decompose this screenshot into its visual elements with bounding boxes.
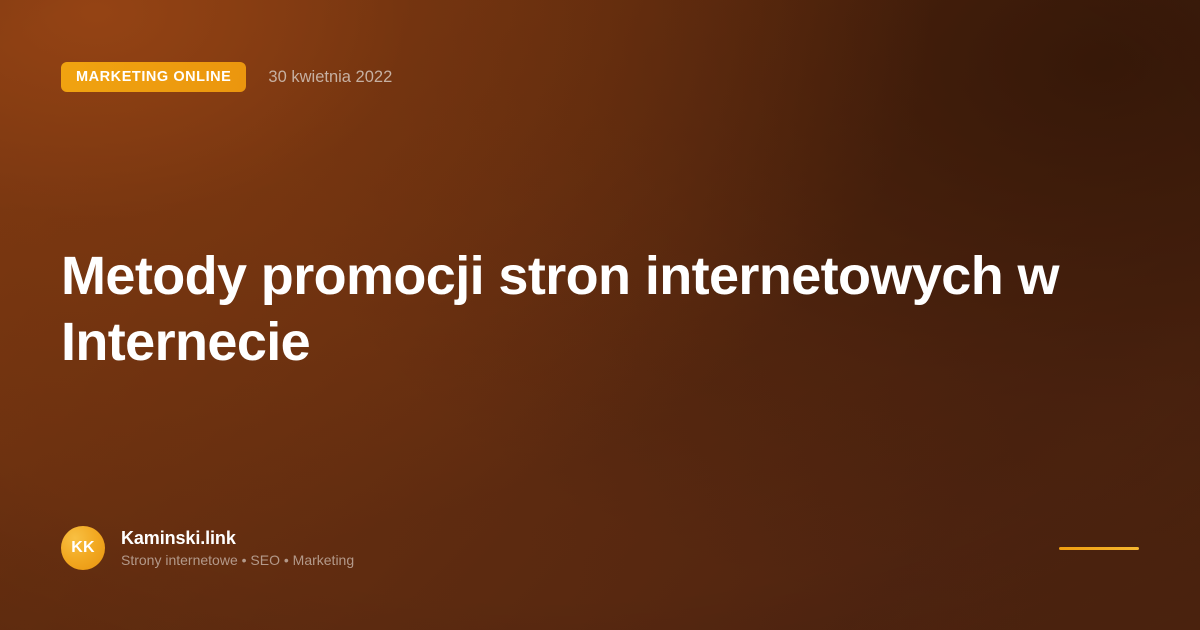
author-text: Kaminski.link Strony internetowe • SEO •…	[121, 528, 354, 569]
author-name: Kaminski.link	[121, 528, 354, 549]
accent-rule	[1059, 547, 1139, 550]
card-content: MARKETING ONLINE 30 kwietnia 2022 Metody…	[0, 0, 1200, 630]
meta-row: MARKETING ONLINE 30 kwietnia 2022	[61, 62, 392, 92]
card-footer: KK Kaminski.link Strony internetowe • SE…	[61, 526, 1139, 570]
category-badge[interactable]: MARKETING ONLINE	[61, 62, 246, 92]
avatar: KK	[61, 526, 105, 570]
page-title: Metody promocji stron internetowych w In…	[61, 243, 1061, 375]
author-tagline: Strony internetowe • SEO • Marketing	[121, 552, 354, 569]
author-block[interactable]: KK Kaminski.link Strony internetowe • SE…	[61, 526, 354, 570]
publish-date: 30 kwietnia 2022	[268, 62, 392, 92]
social-share-card: MARKETING ONLINE 30 kwietnia 2022 Metody…	[0, 0, 1200, 630]
